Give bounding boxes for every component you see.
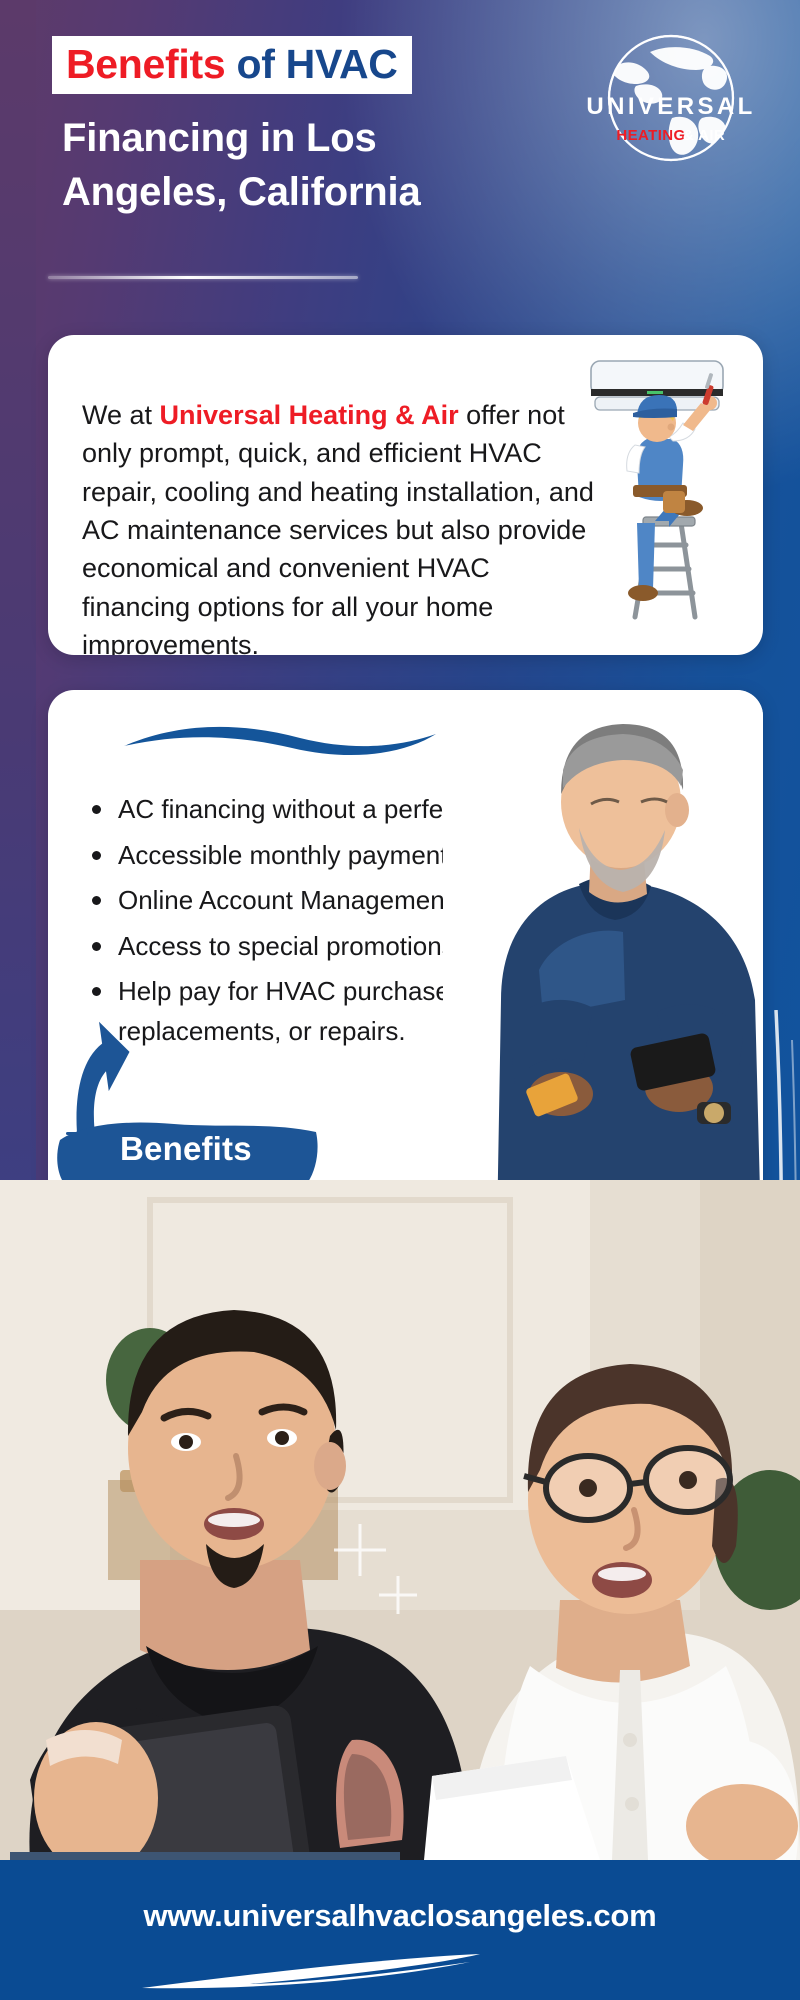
poster-header: Benefits of HVAC Financing in Los Angele… <box>0 0 800 260</box>
hvac-technician-illustration-icon <box>577 345 757 625</box>
blue-wave-decoration-icon <box>120 718 440 760</box>
intro-paragraph: We at Universal Heating & Air offer not … <box>82 396 602 655</box>
footer-swoosh-decoration-icon <box>140 1952 560 1992</box>
footer-bar: www.universalhvaclosangeles.com <box>0 1860 800 2000</box>
page-title-highlight: Benefits of HVAC <box>52 36 412 94</box>
man-with-phone-photo <box>443 690 763 1225</box>
title-line-2: Financing in Los <box>62 112 532 166</box>
logo-tagline-air: & AIR <box>683 127 725 144</box>
infographic-poster: Benefits of HVAC Financing in Los Angele… <box>0 0 800 2000</box>
logo-tagline-heating: HEATING <box>616 127 685 144</box>
title-word-benefits: Benefits <box>66 41 225 87</box>
company-logo: UNIVERSAL HEATING & AIR <box>576 22 766 182</box>
title-line-3: Angeles, California <box>62 166 532 220</box>
title-words-of-hvac: of HVAC <box>225 41 397 87</box>
website-url[interactable]: www.universalhvaclosangeles.com <box>0 1898 800 1934</box>
benefits-card: AC financing without a perfect credit sc… <box>48 690 763 1225</box>
main-photo <box>0 1180 800 1860</box>
benefits-badge-label: Benefits <box>120 1130 252 1168</box>
page-title-subline: Financing in Los Angeles, California <box>62 112 532 219</box>
intro-body-text: offer not only prompt, quick, and effici… <box>82 400 594 655</box>
logo-brand-text: UNIVERSAL <box>586 93 755 120</box>
intro-brand-name: Universal Heating & Air <box>160 400 459 430</box>
main-photo-illustration <box>0 1180 800 1860</box>
header-divider <box>48 276 358 279</box>
intro-card: We at Universal Heating & Air offer not … <box>48 335 763 655</box>
intro-lead-in: We at <box>82 400 160 430</box>
